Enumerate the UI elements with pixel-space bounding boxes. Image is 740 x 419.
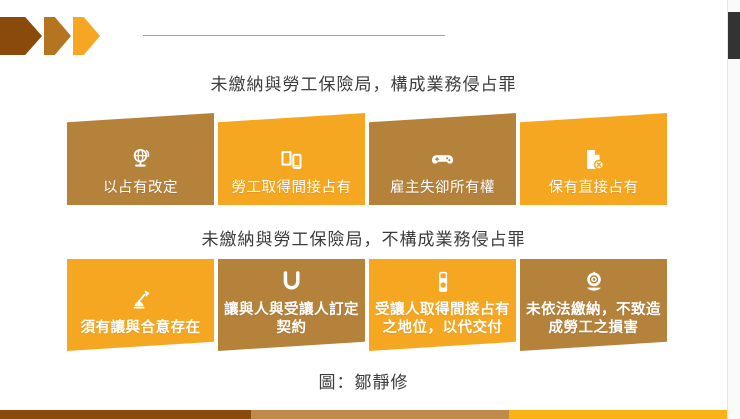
card-label: 受讓人取得間接占有之地位，以代交付 — [369, 301, 516, 337]
vertical-scrollbar[interactable] — [727, 0, 740, 419]
card-label: 雇主失卻所有權 — [386, 179, 499, 197]
section-heading-2: 未繳納與勞工保險局，不構成業務侵占罪 — [0, 225, 727, 250]
mp3-player-icon — [428, 267, 458, 297]
desk-lamp-icon — [126, 285, 156, 315]
card-label: 勞工取得間接占有 — [228, 179, 356, 197]
devices-icon — [277, 145, 307, 175]
slide-canvas: 未繳納與勞工保險局，構成業務侵占罪 以占有改定 — [0, 0, 740, 419]
bar-segment-dark — [0, 410, 251, 419]
card-label: 讓與人與受讓人訂定契約 — [218, 301, 365, 337]
bottom-accent-bar — [0, 410, 727, 419]
chevron-row-2: 須有讓與合意存在 讓與人與受讓人訂定契約 受讓人取得間接占有之地位，以代交付 — [67, 259, 667, 351]
chevron-card[interactable]: 以占有改定 — [67, 113, 214, 205]
chevron-card[interactable]: 未依法繳納，不致造成勞工之損害 — [520, 259, 667, 351]
section-heading-1: 未繳納與勞工保險局，構成業務侵占罪 — [0, 70, 727, 95]
bar-segment-mid — [251, 410, 509, 419]
header-divider — [143, 35, 445, 36]
chevron-card[interactable]: 保有直接占有 — [520, 113, 667, 205]
scrollbar-thumb[interactable] — [728, 12, 740, 59]
chevron-card[interactable]: 須有讓與合意存在 — [67, 259, 214, 351]
chevron-row-1: 以占有改定 勞工取得間接占有 — [67, 113, 667, 205]
chevron-card[interactable]: 勞工取得間接占有 — [218, 113, 365, 205]
chevron-mid-icon — [44, 17, 71, 55]
card-label: 以占有改定 — [99, 179, 182, 197]
chevron-card[interactable]: 讓與人與受讓人訂定契約 — [218, 259, 365, 351]
card-label: 未依法繳納，不致造成勞工之損害 — [520, 301, 667, 337]
figure-caption: 圖：鄒靜修 — [0, 368, 727, 393]
chevron-card[interactable]: 受讓人取得間接占有之地位，以代交付 — [369, 259, 516, 351]
bar-segment-light — [509, 410, 727, 419]
globe-icon — [126, 145, 156, 175]
chevron-dark-icon — [0, 17, 42, 55]
chevron-decoration — [0, 17, 120, 55]
magnet-icon — [277, 267, 307, 297]
chevron-card[interactable]: 雇主失卻所有權 — [369, 113, 516, 205]
gamepad-icon — [428, 145, 458, 175]
document-icon — [579, 145, 609, 175]
card-label: 須有讓與合意存在 — [77, 319, 205, 337]
chevron-light-icon — [73, 17, 100, 55]
card-label: 保有直接占有 — [545, 179, 643, 197]
webcam-icon — [579, 267, 609, 297]
